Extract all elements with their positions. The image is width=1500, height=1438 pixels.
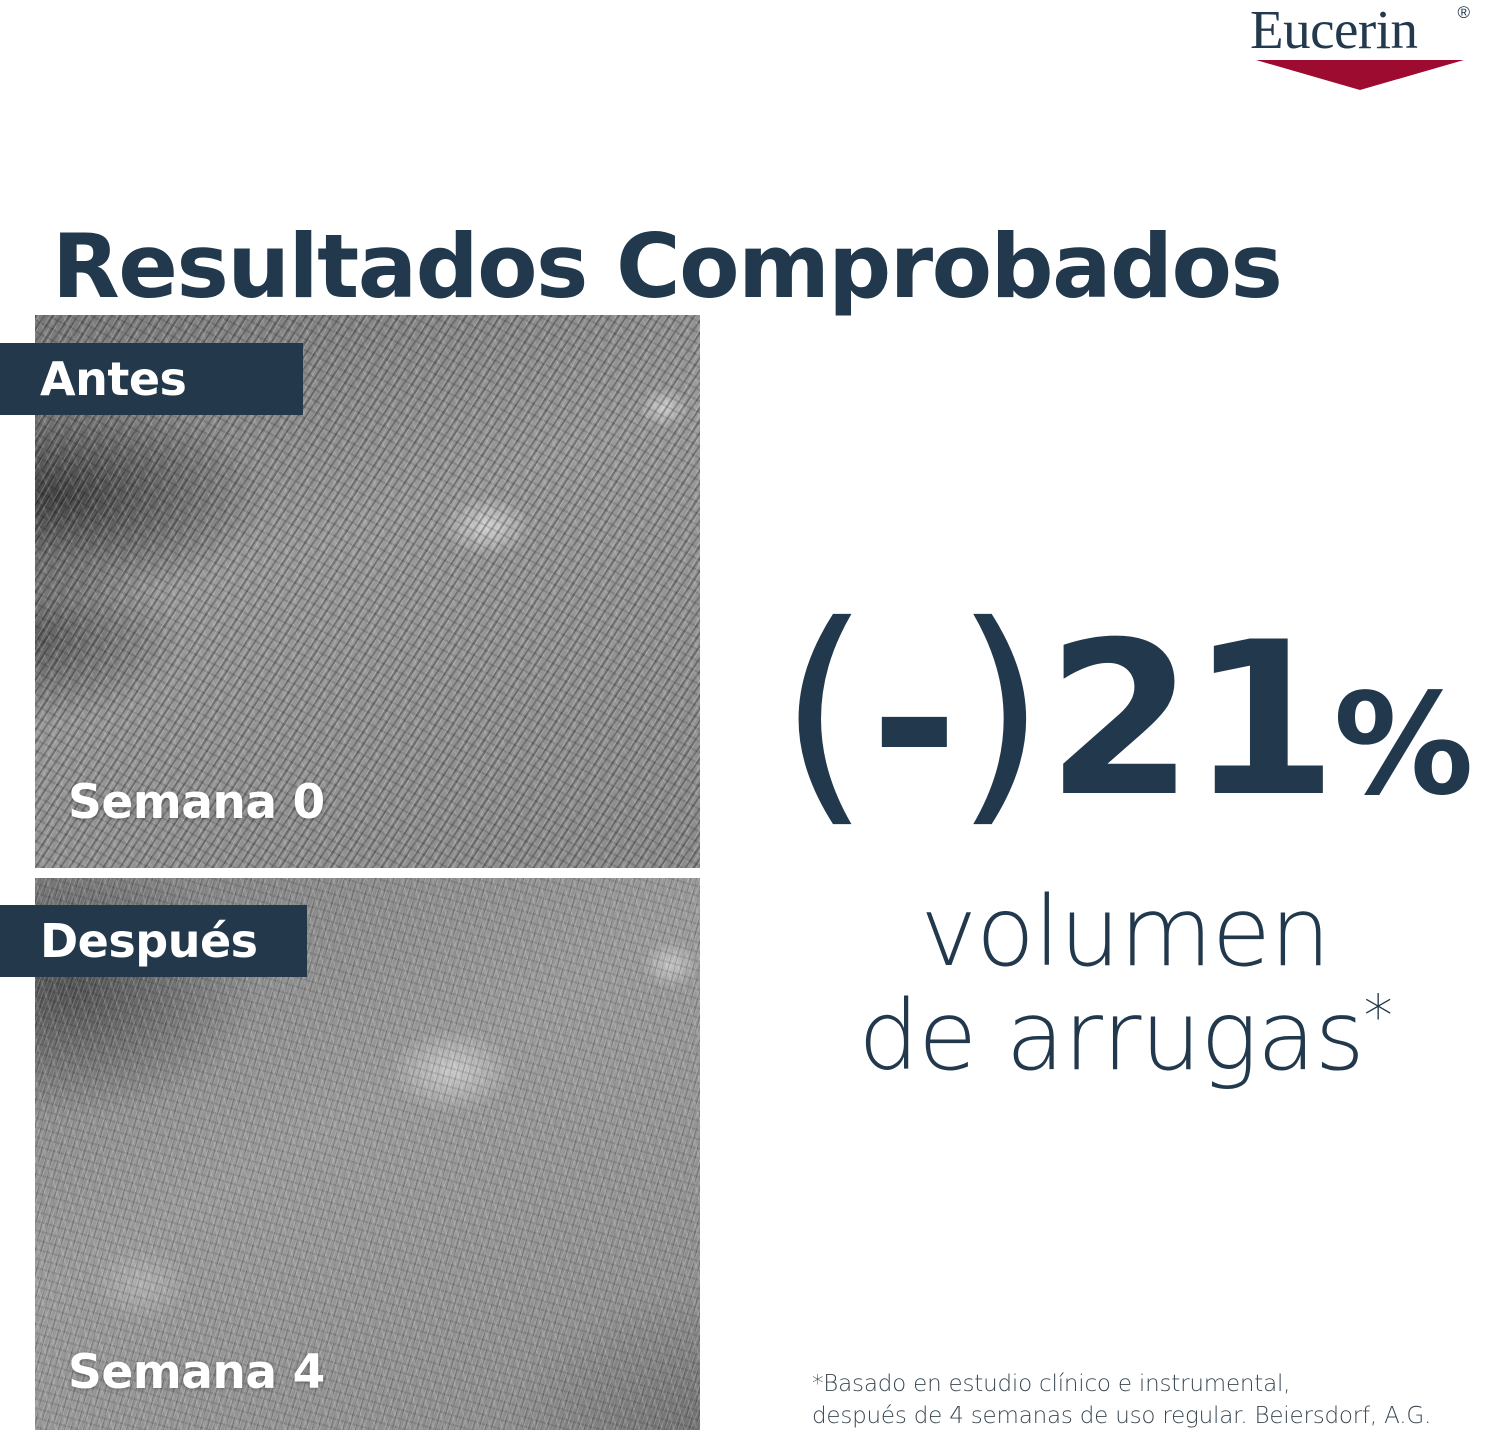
badge-despues: Después	[0, 905, 307, 977]
footnote: *Basado en estudio clínico e instrumenta…	[812, 1368, 1492, 1432]
badge-antes: Antes	[0, 343, 303, 415]
advertisement-page: Eucerin ® Resultados Comprobados Antes S…	[0, 0, 1500, 1438]
claim-minus-sign: -	[870, 596, 954, 843]
claim-percent-sign: %	[1333, 664, 1471, 827]
caption-semana-4: Semana 4	[68, 1348, 325, 1398]
claim-block: (-)21% volumende arrugas*	[755, 596, 1495, 1088]
caption-semana-0: Semana 0	[68, 778, 325, 828]
footnote-line-2: después de 4 semanas de uso regular. Bei…	[812, 1400, 1492, 1432]
footnote-line-1: *Basado en estudio clínico e instrumenta…	[812, 1368, 1492, 1400]
brand-wordmark: Eucerin	[1250, 2, 1418, 58]
claim-subtitle-line-2: de arrugas	[858, 980, 1364, 1092]
claim-value: 21	[1046, 596, 1333, 843]
claim-asterisk: *	[1364, 982, 1392, 1050]
registered-trademark-icon: ®	[1457, 4, 1470, 21]
claim-figure: (-)21%	[755, 596, 1495, 862]
claim-subtitle-line-1: volumen	[920, 876, 1329, 988]
claim-close-paren: )	[954, 574, 1046, 849]
claim-subtitle: volumende arrugas*	[755, 880, 1495, 1088]
brand-chevron-icon	[1256, 60, 1464, 90]
claim-open-paren: (	[778, 574, 870, 849]
page-title: Resultados Comprobados	[52, 219, 1492, 315]
eucerin-logo: Eucerin ®	[1250, 2, 1470, 88]
